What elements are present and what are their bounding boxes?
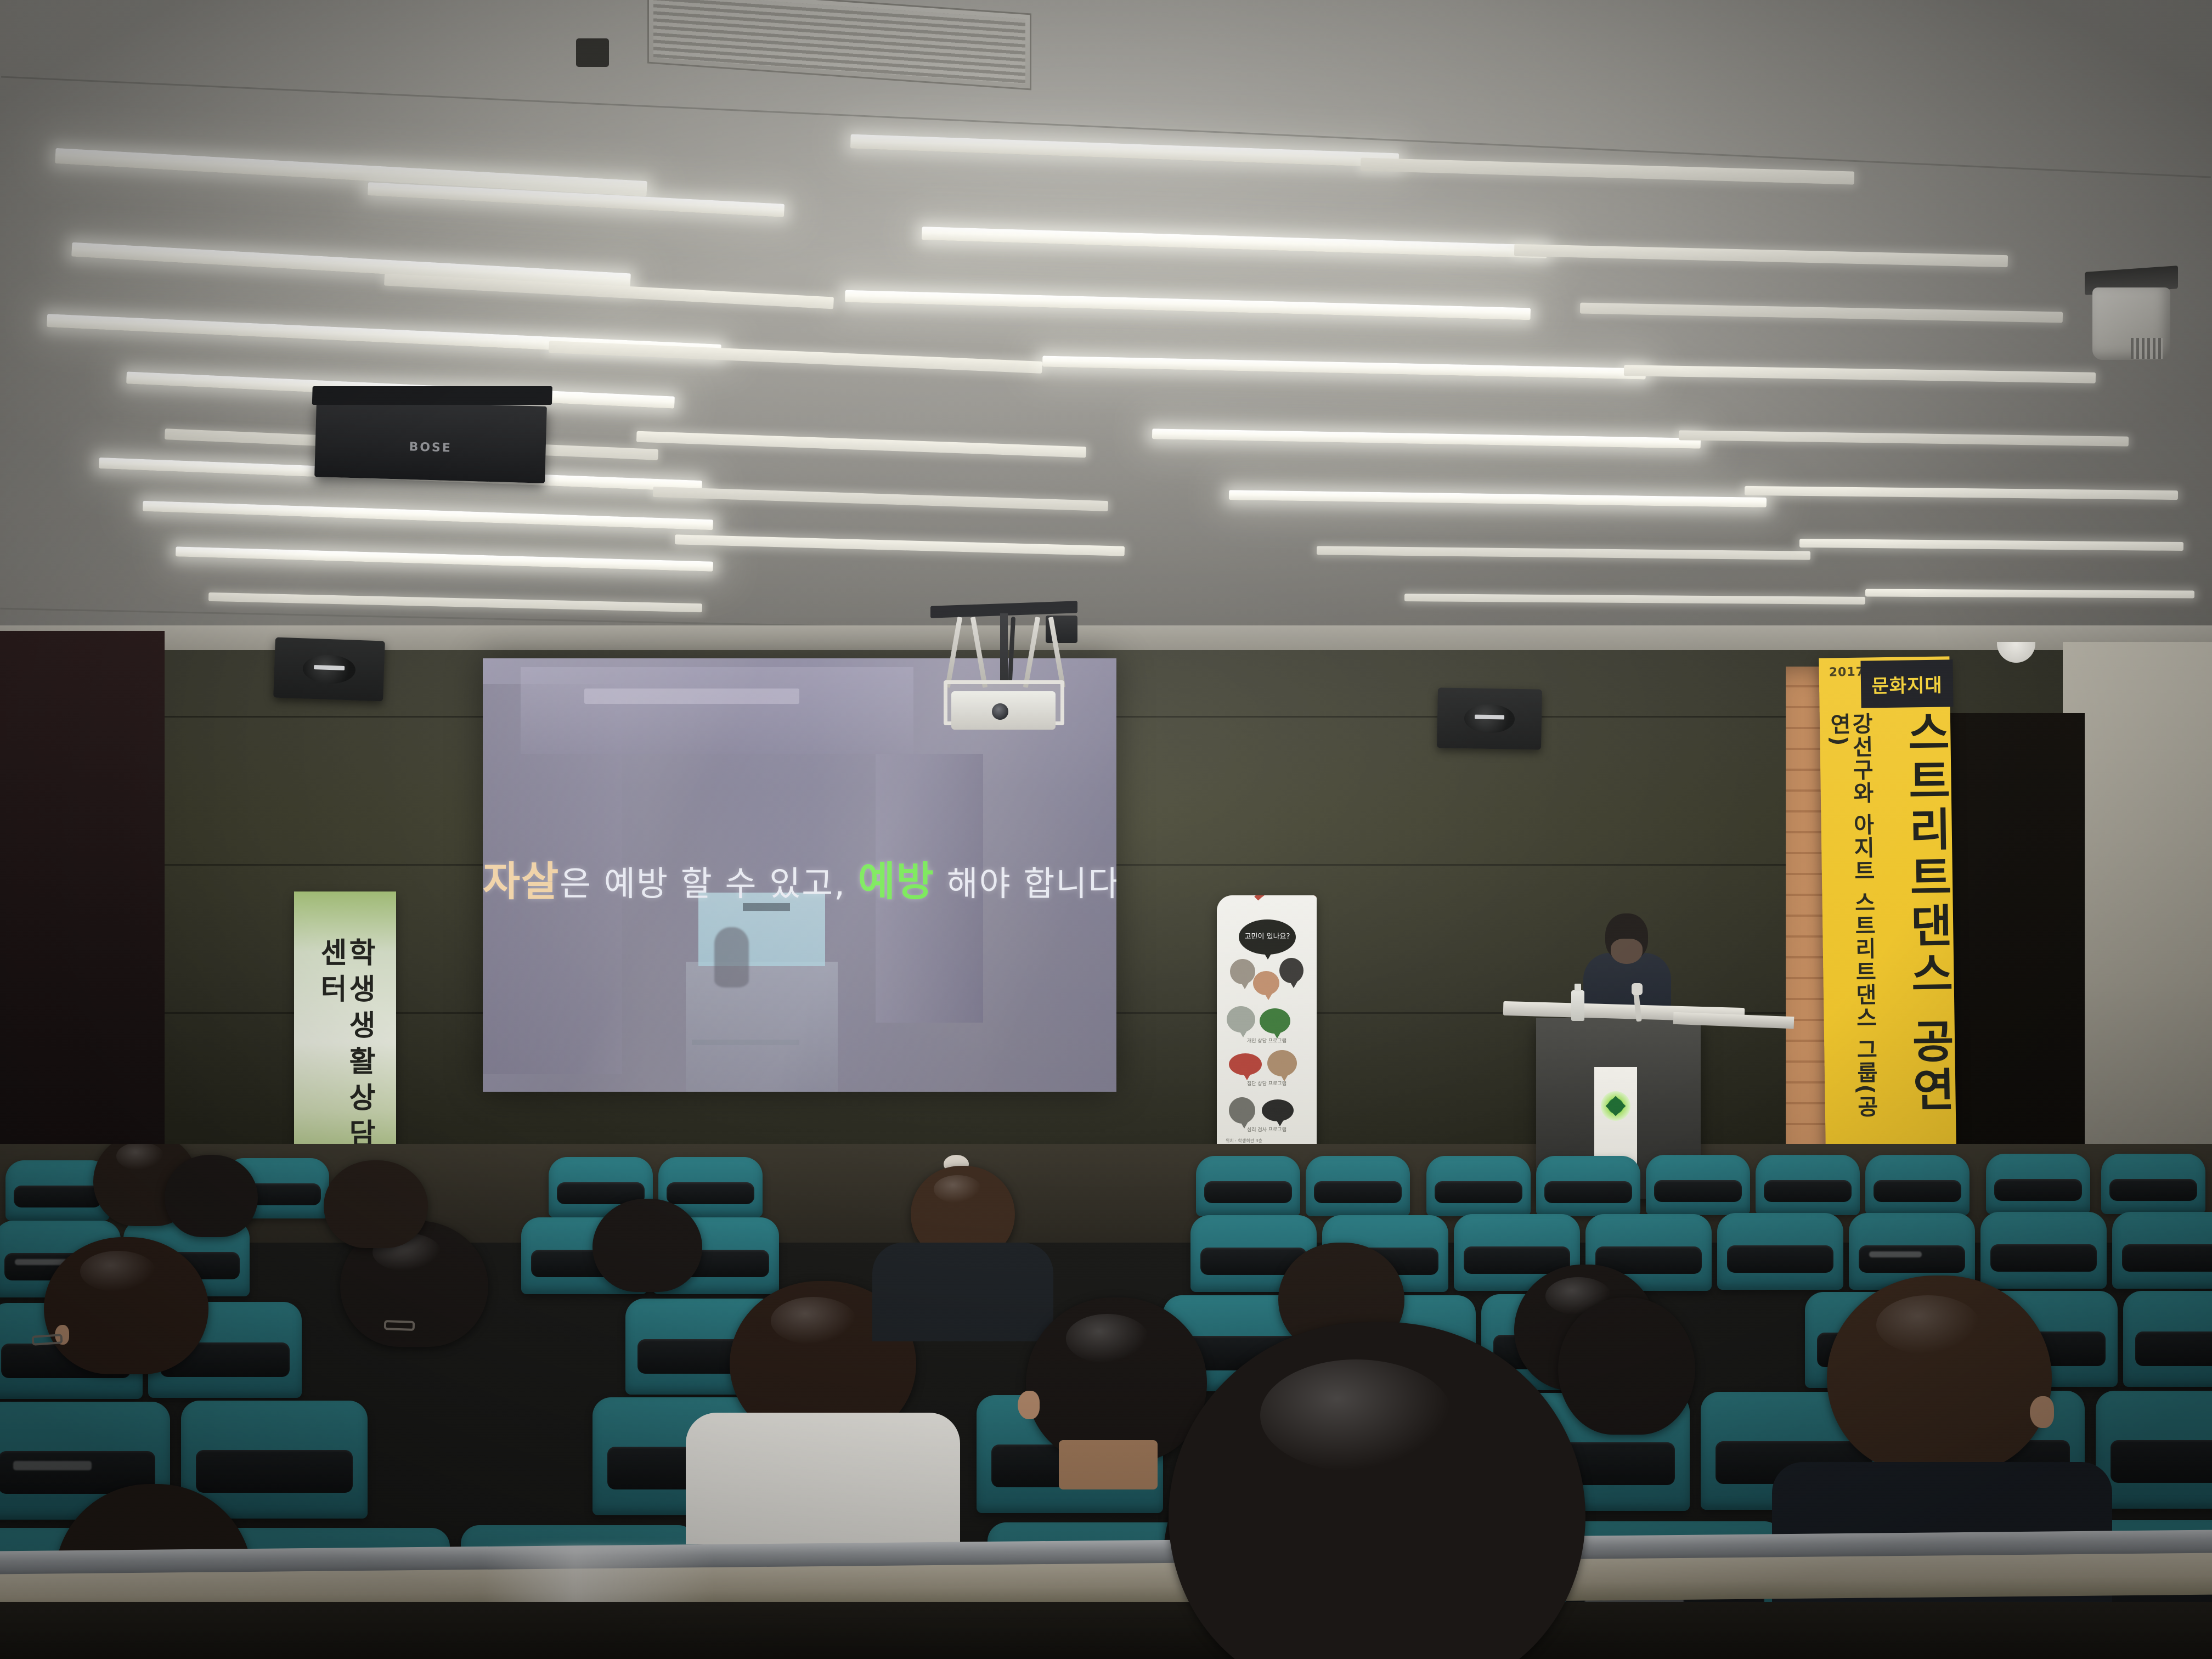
seat-headrest	[1544, 1181, 1632, 1203]
banner-caption-3: 심리 검사 프로그램	[1217, 1126, 1317, 1133]
seat-headrest	[1654, 1180, 1742, 1202]
seat-headrest	[14, 1186, 101, 1207]
vent-knob	[576, 38, 609, 67]
audience-head	[324, 1160, 428, 1248]
seat	[2112, 1212, 2212, 1289]
water-bottle	[1571, 990, 1584, 1021]
seat	[2101, 1154, 2205, 1214]
bose-ceiling-speaker: BOSE	[314, 400, 547, 483]
seat	[2123, 1291, 2212, 1387]
bubble-headline-text: 고민이 있나요?	[1245, 933, 1290, 941]
bubble-daein: 대인	[1229, 1053, 1262, 1075]
slide-figure-silhouette	[714, 927, 749, 988]
bubble-label: 관계	[1277, 1060, 1287, 1066]
banner-sub-title: 강선구와 아지트 스트리트댄스 그룹(공연)	[1827, 712, 1877, 1130]
banner-street-dance: 2017 문화지대 스트리트댄스 공연 강선구와 아지트 스트리트댄스 그룹(공…	[1819, 656, 1956, 1179]
bubble-label: 검사	[1261, 980, 1271, 986]
seat-headrest	[1764, 1180, 1852, 1202]
audience-head	[1827, 1276, 2052, 1473]
seat	[1306, 1156, 1410, 1216]
seat-headrest	[1435, 1181, 1522, 1203]
right-lit-wall	[2063, 642, 2212, 1207]
bubble-label: 웃음	[1237, 1108, 1247, 1114]
seat	[1980, 1212, 2107, 1289]
audience-shoulders	[686, 1413, 960, 1544]
slide-corridor-light	[584, 689, 800, 704]
seat-gleam	[15, 1259, 68, 1265]
bubble-hakeop: 학업	[1260, 1008, 1290, 1034]
projector-scissor-arm	[970, 617, 988, 688]
seat-headrest	[1990, 1244, 2096, 1272]
bubble-label: 예약	[1286, 968, 1296, 974]
speaker-brand-label: BOSE	[409, 441, 452, 455]
bubble-jinro: 진로	[1227, 1006, 1255, 1032]
speaker-tweeter	[1475, 715, 1504, 720]
bubble-headline: 고민이 있나요?	[1239, 919, 1296, 955]
seat-headrest	[1204, 1181, 1292, 1203]
seat	[1536, 1156, 1640, 1216]
bubble-label: 행복	[1273, 1108, 1283, 1114]
seat	[1646, 1155, 1750, 1215]
seat-headrest	[1727, 1245, 1833, 1273]
bubble-haengbok: 행복	[1262, 1099, 1294, 1121]
seat-headrest	[2122, 1244, 2212, 1272]
hair-highlight	[934, 1175, 981, 1203]
seat	[1756, 1155, 1860, 1215]
audience-ear	[1018, 1391, 1040, 1419]
audience-head	[44, 1237, 208, 1374]
seat-headrest	[196, 1450, 353, 1492]
bubble-label: 학업	[1270, 1018, 1280, 1024]
projector-scissor-arm	[1023, 617, 1040, 688]
projector-cable	[1008, 617, 1015, 681]
seat	[1865, 1155, 1970, 1215]
banner-main-title: 스트리트댄스 공연	[1901, 709, 1953, 1148]
bubble-useum: 웃음	[1229, 1097, 1255, 1124]
seat-headrest	[2109, 1179, 2197, 1201]
audience-neck	[1059, 1440, 1158, 1489]
hair-highlight	[771, 1297, 856, 1345]
bubble-label: 진로	[1236, 1017, 1246, 1023]
ceiling	[0, 0, 2212, 675]
bubble-simri: 검사	[1253, 971, 1279, 995]
audience-head	[1026, 1297, 1207, 1462]
seat-headrest	[2111, 1440, 2212, 1482]
seat-headrest	[1994, 1179, 2082, 1201]
eyeglasses	[384, 1320, 415, 1331]
seat-gleam	[13, 1461, 92, 1470]
seat	[1196, 1156, 1300, 1216]
projector-unit-body	[2092, 287, 2170, 360]
banner-rollup-counseling: 고민이 있나요? 심리 검사 예약 진로 학업 개인 상담 프로그램 대인 관계…	[1217, 895, 1317, 1170]
slide-corridor-floor	[686, 962, 838, 1092]
under-railing-shadow	[0, 1602, 2212, 1659]
audience-shoulders	[872, 1243, 1053, 1341]
presenter-face	[1611, 939, 1643, 964]
university-crest-icon	[1601, 1091, 1630, 1121]
speaker-top-bracket	[312, 386, 552, 405]
banner-left-text: 학생생활상담센터	[317, 938, 374, 1166]
hair-highlight	[1260, 1359, 1452, 1471]
slide-word-accent: 예방	[858, 858, 935, 905]
slide-corridor-ceiling	[521, 667, 913, 754]
bubble-label: 심리	[1238, 969, 1248, 975]
banner-counseling-center: 학생생활상담센터	[294, 891, 396, 1166]
projector-drop-pole	[1000, 613, 1008, 680]
audience-head	[1558, 1297, 1695, 1435]
seat-headrest	[667, 1182, 754, 1204]
seat	[1717, 1213, 1843, 1290]
slide-headline: 자살은 예방 할 수 있고, 예방 해야 합니다.	[483, 860, 1116, 904]
microphone-head	[1632, 983, 1643, 995]
hair-highlight	[116, 1144, 164, 1170]
audience-head	[165, 1155, 258, 1237]
hair-highlight	[80, 1251, 156, 1292]
banner-caption-2: 집단 상담 프로그램	[1217, 1080, 1317, 1087]
projector-scissor-arm	[945, 617, 962, 688]
seat	[1426, 1156, 1531, 1216]
bubble-gwangye: 관계	[1267, 1050, 1297, 1076]
seat	[1986, 1154, 2090, 1214]
ceiling-projector-mount	[927, 603, 1081, 746]
projector-unit-grille	[2131, 338, 2163, 359]
seat-gleam	[1869, 1251, 1922, 1257]
audience-head	[592, 1199, 702, 1292]
seat-headrest	[2135, 1331, 2212, 1366]
bubble-label: 대인	[1240, 1062, 1250, 1068]
slide-text-part1: 은 예방 할 수 있고,	[560, 864, 858, 904]
seat-headrest	[1874, 1180, 1961, 1202]
banner-caption-1: 개인 상담 프로그램	[1217, 1037, 1317, 1044]
banner-year: 2017	[1829, 665, 1865, 680]
slide-floor-line	[692, 1040, 799, 1045]
seat	[2096, 1391, 2212, 1509]
hair-highlight	[1066, 1314, 1149, 1363]
slide-word-warning: 자살	[483, 858, 560, 905]
audience-ear	[2030, 1396, 2054, 1428]
banner-header-box: 문화지대	[1860, 659, 1953, 708]
wall-speaker-right	[1437, 687, 1542, 749]
left-doorway-shadow	[0, 631, 165, 1212]
railing-highlight	[482, 1544, 713, 1611]
hair-highlight	[1876, 1295, 1980, 1355]
slide-text-part2: 해야 합니다.	[935, 864, 1116, 904]
ceiling-mounted-projector-unit	[2085, 269, 2178, 368]
seat-headrest	[1314, 1181, 1402, 1203]
projector-lens	[992, 703, 1008, 720]
banner-header-text: 문화지대	[1871, 670, 1943, 698]
auditorium-photo: BOSE	[0, 0, 2212, 1659]
bubble-geomsa: 예약	[1279, 958, 1304, 983]
wall-speaker-left	[273, 637, 385, 702]
bubble-sangdam: 심리	[1230, 959, 1255, 984]
seat-headrest	[1859, 1245, 1965, 1273]
